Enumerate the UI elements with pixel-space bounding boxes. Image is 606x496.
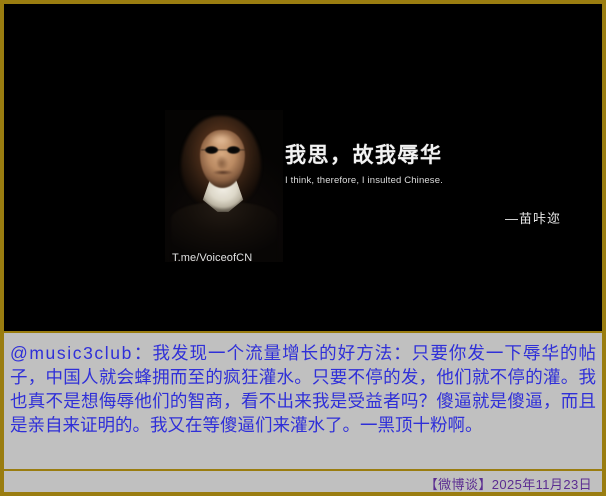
source-and-date-stamp: 【微博谈】2025年11月23日 xyxy=(425,474,592,493)
post-handle-separator: ： xyxy=(133,343,153,363)
meme-subtitle: I think, therefore, I insulted Chinese. xyxy=(285,175,585,186)
telegram-watermark: T.me/VoiceofCN xyxy=(172,252,252,264)
post-paragraph: @music3club：我发现一个流量增长的好方法：只要你发一下辱华的帖子，中国… xyxy=(10,341,596,437)
meme-caption-block: 我思，故我辱华 I think, therefore, I insulted C… xyxy=(285,144,585,227)
meme-headline: 我思，故我辱华 xyxy=(285,144,585,167)
portrait-mouth xyxy=(213,170,233,175)
descartes-portrait-image xyxy=(165,110,283,262)
meme-image: T.me/VoiceofCN 我思，故我辱华 I think, therefor… xyxy=(4,4,602,331)
post-text-area: @music3club：我发现一个流量增长的好方法：只要你发一下辱华的帖子，中国… xyxy=(4,333,602,469)
weibo-post-card: T.me/VoiceofCN 我思，故我辱华 I think, therefor… xyxy=(0,0,606,496)
portrait-glasses xyxy=(201,146,245,154)
meme-attribution: —苗咔迩 xyxy=(285,208,585,227)
post-author-handle[interactable]: @music3club xyxy=(10,343,133,363)
footer-bar: 【微博谈】2025年11月23日 xyxy=(4,471,602,496)
portrait-nose xyxy=(217,155,229,169)
